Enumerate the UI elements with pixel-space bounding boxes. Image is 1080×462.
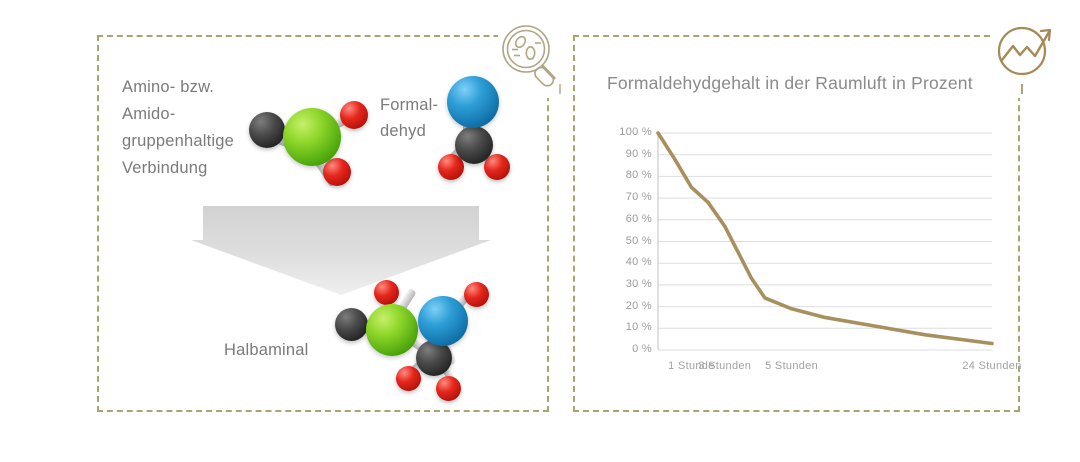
x-tick-label: 24 Stunden <box>947 360 1037 372</box>
atom-red <box>436 376 461 401</box>
amine-molecule <box>243 86 383 191</box>
y-tick-label: 10 % <box>606 321 652 333</box>
atom-red <box>340 101 368 129</box>
y-tick-label: 30 % <box>606 278 652 290</box>
y-tick-label: 50 % <box>606 235 652 247</box>
y-tick-label: 80 % <box>606 169 652 181</box>
atom-dark <box>455 126 493 164</box>
chart-title: Formaldehydgehalt in der Raumluft in Pro… <box>607 73 973 94</box>
data-series <box>658 133 992 343</box>
trend-circle-icon <box>993 22 1065 98</box>
y-tick-label: 0 % <box>606 343 652 355</box>
halbaminal-molecule <box>330 272 500 402</box>
atom-blue <box>447 76 499 128</box>
atom-blue <box>418 296 468 346</box>
y-tick-label: 60 % <box>606 213 652 225</box>
atom-dark <box>335 308 368 341</box>
y-tick-label: 100 % <box>606 126 652 138</box>
y-tick-label: 90 % <box>606 148 652 160</box>
chart-plot <box>600 120 1000 385</box>
slide-canvas: Amino- bzw. Amido- gruppenhaltige Verbin… <box>0 0 1080 462</box>
y-tick-label: 70 % <box>606 191 652 203</box>
atom-red <box>396 366 421 391</box>
y-tick-label: 40 % <box>606 256 652 268</box>
formaldehyde-molecule <box>438 72 518 182</box>
atom-red <box>374 280 399 305</box>
line-chart: 100 %90 %80 %70 %60 %50 %40 %30 %20 %10 … <box>600 120 1000 385</box>
atom-green <box>366 304 418 356</box>
atom-red <box>464 282 489 307</box>
atom-red <box>323 158 351 186</box>
y-tick-label: 20 % <box>606 300 652 312</box>
x-tick-label: 5 Stunden <box>747 360 837 372</box>
atom-dark <box>249 112 285 148</box>
atom-green <box>283 108 341 166</box>
